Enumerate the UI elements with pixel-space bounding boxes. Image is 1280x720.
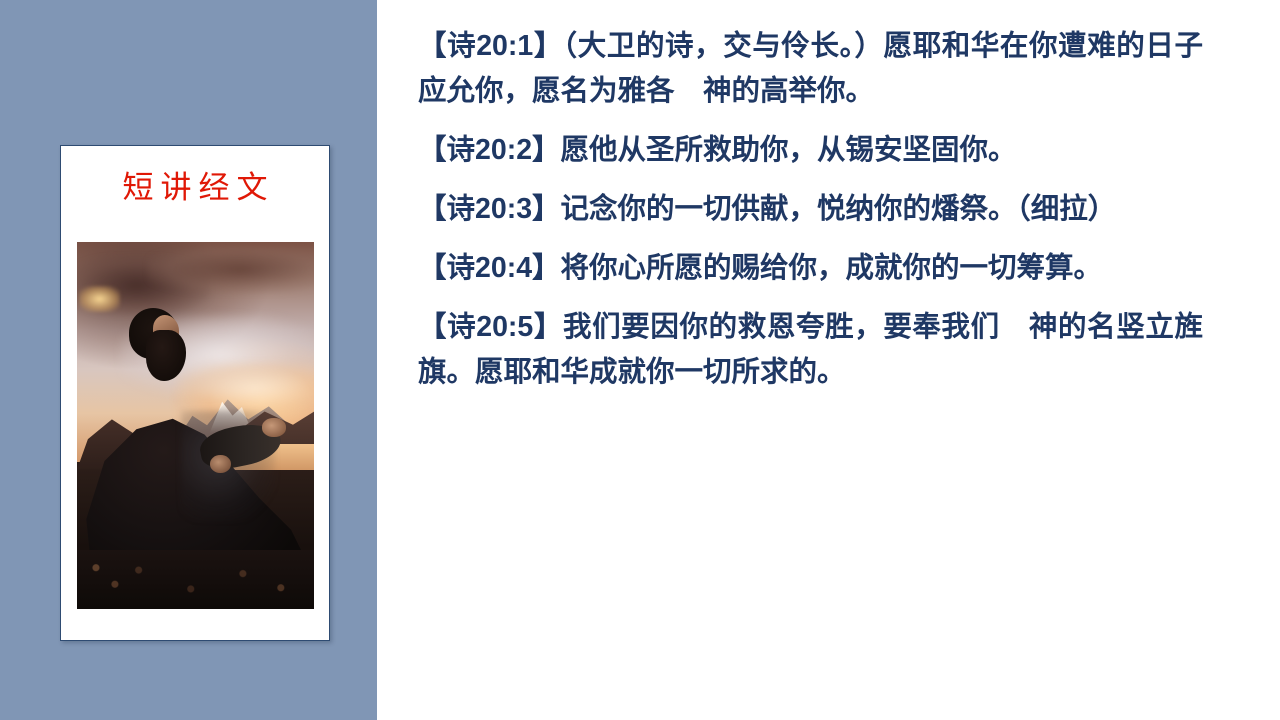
painting-cloud-glow — [177, 363, 314, 414]
picture-card: 短讲经文 — [60, 145, 330, 641]
painting-figure-hand-right — [262, 418, 286, 436]
verse-paragraph: 【诗20:5】我们要因你的救恩夸胜，要奉我们 神的名竖立旌旗。愿耶和华成就你一切… — [418, 305, 1203, 395]
verse-paragraph: 【诗20:2】愿他从圣所救助你，从锡安坚固你。 — [418, 128, 1203, 173]
scripture-text-block: 【诗20:1】（大卫的诗，交与伶长。）愿耶和华在你遭难的日子应允你，愿名为雅各 … — [418, 24, 1203, 395]
verse-paragraph: 【诗20:4】将你心所愿的赐给你，成就你的一切筹算。 — [418, 246, 1203, 291]
verse-paragraph: 【诗20:1】（大卫的诗，交与伶长。）愿耶和华在你遭难的日子应允你，愿名为雅各 … — [418, 24, 1203, 114]
card-title: 短讲经文 — [61, 168, 329, 208]
painting-gold-cloud — [79, 286, 119, 312]
painting-figure-hand-left — [210, 455, 231, 473]
painting-carpet — [77, 550, 314, 609]
painting-cloud-dark-right — [148, 246, 314, 294]
prophet-painting-image — [77, 242, 314, 609]
verse-paragraph: 【诗20:3】记念你的一切供献，悦纳你的燔祭。（细拉） — [418, 187, 1203, 232]
slide-canvas: 短讲经文 【诗20:1】（大卫的诗，交与伶长。 — [0, 0, 1280, 720]
